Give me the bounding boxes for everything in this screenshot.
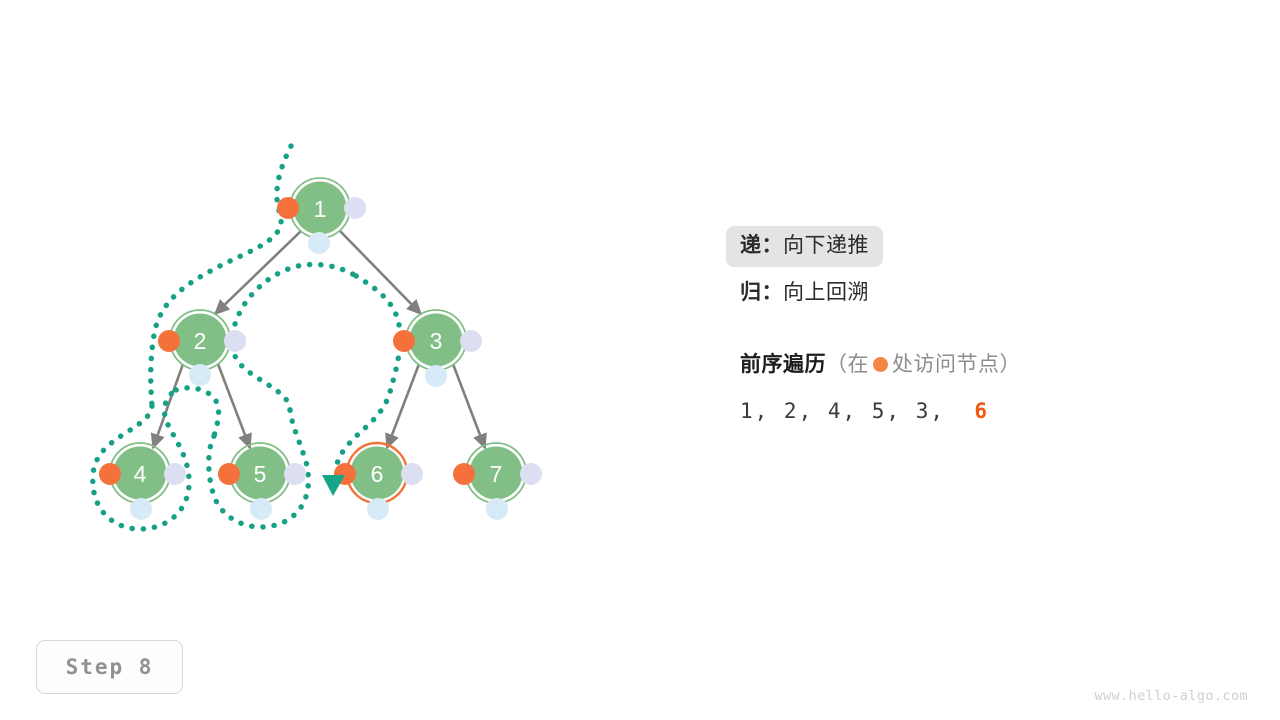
step-badge: Step 8 <box>36 640 183 694</box>
legend-backtrack-text: 向上回溯 <box>783 281 869 304</box>
legend-backtrack-key: 归 <box>740 281 762 304</box>
node-1-label: 1 <box>314 196 327 222</box>
traversal-sequence-visited: 1, 2, 4, 5, 3, <box>740 399 945 423</box>
node-4-label: 4 <box>134 461 147 487</box>
node-7-label: 7 <box>490 461 503 487</box>
node-6-right-port-icon <box>401 463 423 485</box>
node-4-visit-port-icon <box>99 463 121 485</box>
traversal-sequence: 1, 2, 4, 5, 3, 6 <box>726 399 1226 423</box>
step-badge-label: Step 8 <box>66 655 154 679</box>
tree-node-4[interactable]: 4 <box>99 443 186 520</box>
node-3-label: 3 <box>430 328 443 354</box>
watermark: www.hello-algo.com <box>1095 688 1249 704</box>
edge-2-5 <box>218 364 250 448</box>
current-position-marker-icon <box>322 475 345 496</box>
info-panel: 递：向下递推 归：向上回溯 前序遍历（在处访问节点） 1, 2, 4, 5, 3… <box>726 226 1226 423</box>
tree-node-5[interactable]: 5 <box>218 443 306 520</box>
traversal-heading: 前序遍历（在处访问节点） <box>726 354 1226 375</box>
node-2-right-port-icon <box>224 330 246 352</box>
path-5-up-to-root <box>232 264 356 410</box>
binary-tree-diagram: 1 2 3 4 5 <box>0 0 660 620</box>
node-4-right-port-icon <box>164 463 186 485</box>
node-5-bottom-port-icon <box>250 498 272 520</box>
node-5-label: 5 <box>254 461 267 487</box>
node-6-bottom-port-icon <box>367 498 389 520</box>
node-2-bottom-port-icon <box>189 364 211 386</box>
node-2-label: 2 <box>194 328 207 354</box>
edge-2-4 <box>153 364 183 448</box>
path-4-to-5 <box>176 388 219 436</box>
node-4-bottom-port-icon <box>130 498 152 520</box>
node-6-label: 6 <box>371 461 384 487</box>
tree-node-2[interactable]: 2 <box>158 310 246 386</box>
watermark-label: www.hello-algo.com <box>1095 688 1249 704</box>
path-root-to-3-to-6 <box>336 276 400 472</box>
traversal-note-close: 处访问节点） <box>892 353 1021 376</box>
edge-3-7 <box>453 364 485 448</box>
legend-backtrack-row: 归：向上回溯 <box>726 273 1226 314</box>
tree-node-6[interactable]: 6 <box>334 443 423 520</box>
traversal-note-open: （在 <box>826 353 869 376</box>
legend-recurse-row: 递：向下递推 <box>726 226 1226 267</box>
node-7-bottom-port-icon <box>486 498 508 520</box>
legend-recurse-key: 递 <box>740 234 762 257</box>
edge-1-2 <box>215 231 301 314</box>
node-1-right-port-icon <box>344 197 366 219</box>
tree-node-7[interactable]: 7 <box>453 443 542 520</box>
node-5-right-port-icon <box>284 463 306 485</box>
node-3-right-port-icon <box>460 330 482 352</box>
node-2-visit-port-icon <box>158 330 180 352</box>
node-5-visit-port-icon <box>218 463 240 485</box>
edge-3-6 <box>387 364 419 448</box>
traversal-sequence-current: 6 <box>974 399 989 423</box>
legend-backtrack: 归：向上回溯 <box>726 273 883 314</box>
node-3-bottom-port-icon <box>425 365 447 387</box>
traversal-title: 前序遍历 <box>740 353 826 376</box>
node-7-right-port-icon <box>520 463 542 485</box>
node-3-visit-port-icon <box>393 330 415 352</box>
legend-recurse-sep: ： <box>762 234 784 257</box>
node-1-visit-port-icon <box>277 197 299 219</box>
node-1-bottom-port-icon <box>308 232 330 254</box>
tree-node-3[interactable]: 3 <box>393 310 482 387</box>
node-7-visit-port-icon <box>453 463 475 485</box>
visit-marker-dot-icon <box>873 357 888 372</box>
legend-recurse-text: 向下递推 <box>783 234 869 257</box>
path-enter-root-to-2 <box>151 146 291 406</box>
legend-backtrack-sep: ： <box>762 281 784 304</box>
legend-recurse: 递：向下递推 <box>726 226 883 267</box>
